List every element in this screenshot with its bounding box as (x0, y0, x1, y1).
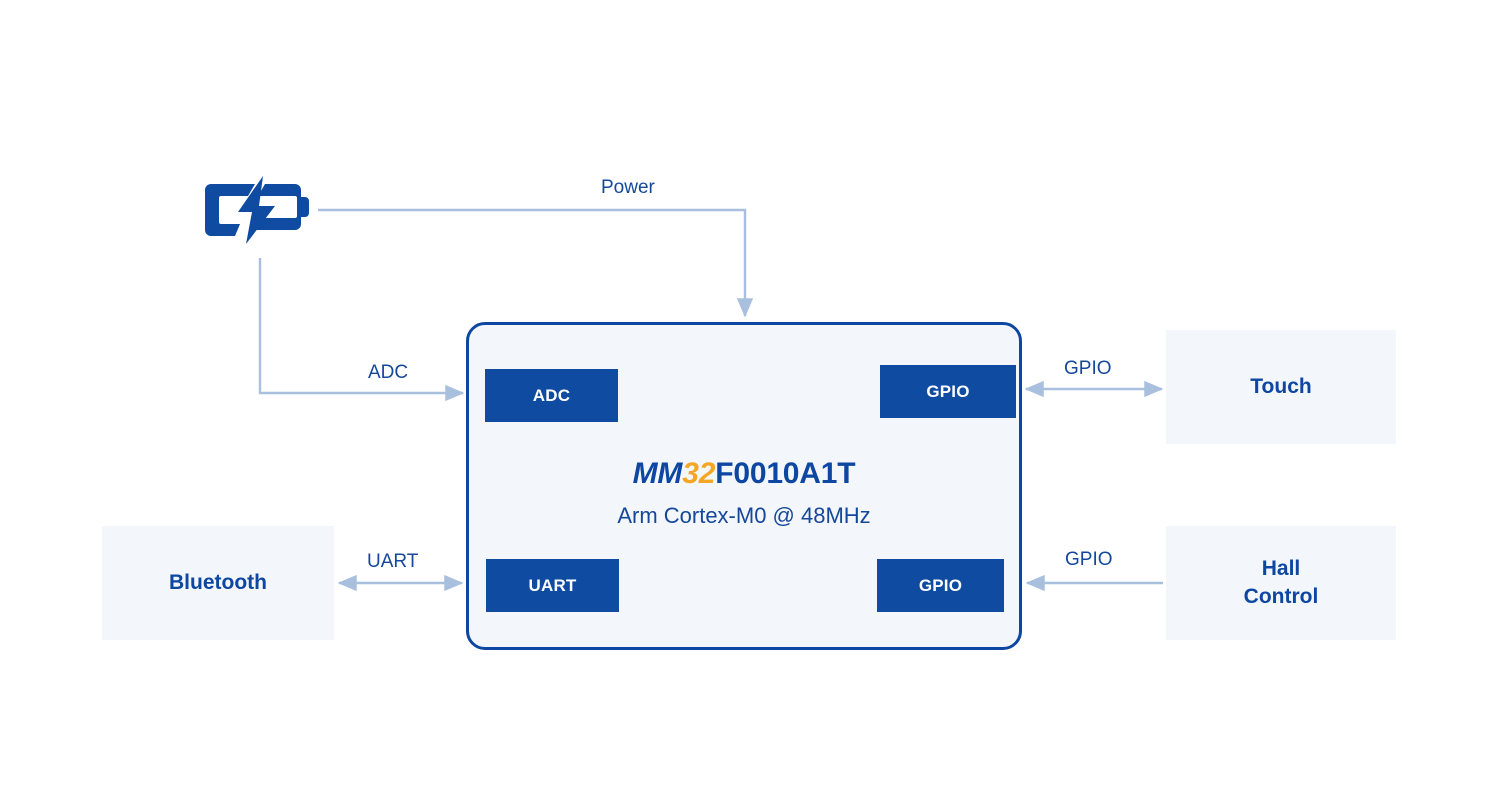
mcu-chip: ADC GPIO UART GPIO MM32F0010A1T Arm Cort… (466, 322, 1022, 650)
battery-charging-icon (205, 176, 311, 244)
peripheral-block-gpio-top[interactable]: GPIO (880, 365, 1016, 418)
external-block-bluetooth[interactable]: Bluetooth (102, 526, 334, 640)
connector-label-gpio-hall: GPIO (1065, 549, 1113, 571)
connector-power (318, 210, 745, 316)
external-block-label-touch: Touch (1250, 373, 1311, 401)
mcu-part-number-prefix: MM (633, 457, 683, 490)
diagram-canvas: Power ADC UART GPIO GPIO ADC GPIO UART G… (0, 0, 1500, 803)
external-block-label-bluetooth: Bluetooth (169, 569, 267, 597)
peripheral-block-uart[interactable]: UART (486, 559, 619, 612)
peripheral-label-adc: ADC (533, 386, 570, 406)
peripheral-label-gpio-bottom: GPIO (919, 576, 962, 596)
connector-label-gpio-touch: GPIO (1064, 358, 1112, 380)
connector-adc (260, 258, 463, 393)
connector-label-power: Power (601, 177, 655, 199)
hall-label-line1: Hall (1262, 557, 1301, 580)
hall-label-line2: Control (1244, 585, 1319, 608)
external-block-label-hall-control: HallControl (1244, 555, 1319, 610)
mcu-part-number-suffix: F0010A1T (715, 457, 855, 490)
peripheral-label-gpio-top: GPIO (926, 382, 969, 402)
peripheral-block-adc[interactable]: ADC (485, 369, 618, 422)
mcu-part-number: MM32F0010A1T (469, 457, 1019, 491)
external-block-hall-control[interactable]: HallControl (1166, 526, 1396, 640)
mcu-part-number-accent: 32 (682, 457, 715, 490)
peripheral-label-uart: UART (528, 576, 576, 596)
mcu-core-description: Arm Cortex-M0 @ 48MHz (469, 503, 1019, 529)
external-block-touch[interactable]: Touch (1166, 330, 1396, 444)
peripheral-block-gpio-bottom[interactable]: GPIO (877, 559, 1004, 612)
connector-label-uart: UART (367, 551, 418, 573)
connector-label-adc: ADC (368, 362, 408, 384)
